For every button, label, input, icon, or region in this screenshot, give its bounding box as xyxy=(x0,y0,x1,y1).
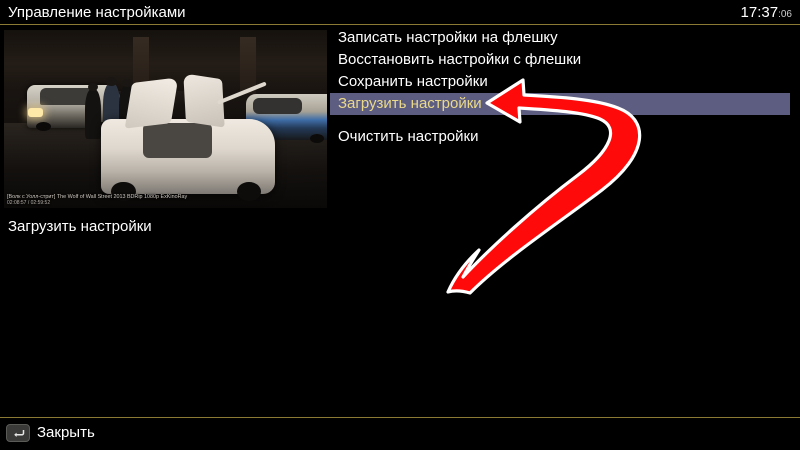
close-button-label: Закрыть xyxy=(37,424,95,442)
kodi-settings-screen: Управление настройками 17:37:06 xyxy=(0,0,800,450)
scene-car-windshield xyxy=(253,98,302,115)
thumbnail-caption: [Волк с Уолл-стрит] The Wolf of Wall Str… xyxy=(7,195,324,206)
menu-item-write-settings-to-usb[interactable]: Записать настройки на флешку xyxy=(330,27,790,49)
footer-bar: Закрыть xyxy=(0,418,800,450)
current-action-label: Загрузить настройки xyxy=(8,216,152,237)
title-bar: Управление настройками 17:37:06 xyxy=(0,0,800,25)
scene-car-door-left xyxy=(124,78,178,130)
menu-item-save-settings[interactable]: Сохранить настройки xyxy=(330,71,790,93)
top-divider xyxy=(0,24,800,25)
page-title: Управление настройками xyxy=(8,2,186,23)
scene-person xyxy=(85,89,101,139)
clock: 17:37:06 xyxy=(741,2,792,25)
clock-time: 17:37 xyxy=(741,4,779,21)
scene-wrecked-sports-car xyxy=(101,119,275,194)
return-key-icon xyxy=(6,424,30,442)
settings-menu: Записать настройки на флешку Восстановит… xyxy=(330,27,790,148)
thumbnail-image xyxy=(4,30,327,208)
thumbnail-timecode: 02:08:57 / 02:59:52 xyxy=(7,201,324,206)
menu-item-restore-settings-from-usb[interactable]: Восстановить настройки с флешки xyxy=(330,49,790,71)
close-button[interactable]: Закрыть xyxy=(6,424,95,442)
video-preview-thumbnail[interactable]: [Волк с Уолл-стрит] The Wolf of Wall Str… xyxy=(4,30,327,208)
scene-car-wheel xyxy=(310,134,324,143)
scene-person-head xyxy=(122,79,132,88)
scene-person-head xyxy=(106,77,117,86)
scene-car-cabin xyxy=(143,123,213,157)
scene-car-headlight xyxy=(28,108,43,117)
scene-person-head xyxy=(88,83,98,91)
menu-item-clear-settings[interactable]: Очистить настройки xyxy=(330,126,790,148)
menu-item-load-settings[interactable]: Загрузить настройки xyxy=(330,93,790,115)
clock-seconds: :06 xyxy=(778,9,792,20)
menu-spacer xyxy=(330,115,790,126)
